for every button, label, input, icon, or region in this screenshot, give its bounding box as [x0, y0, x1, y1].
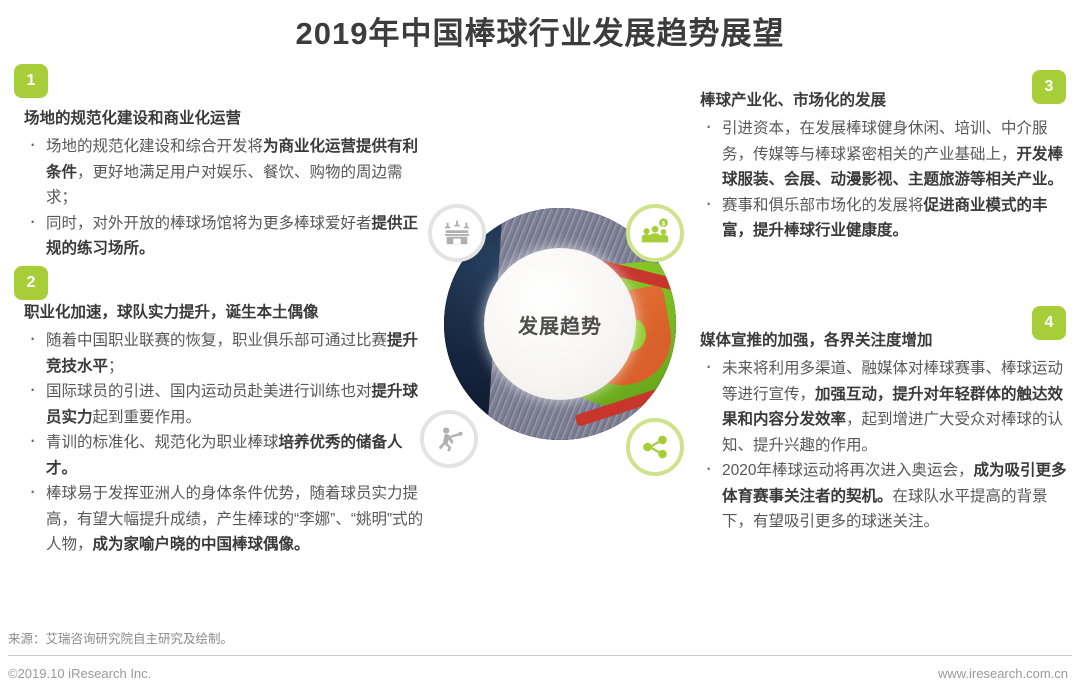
source-note: 来源：艾瑞咨询研究院自主研究及绘制。: [8, 628, 233, 647]
bullet-item: 随着中国职业联赛的恢复，职业俱乐部可通过比赛提升竞技水平；: [24, 328, 424, 379]
bullet-text: 随着中国职业联赛的恢复，职业俱乐部可通过比赛: [46, 332, 387, 349]
bullet-item: 引进资本，在发展棒球健身休闲、培训、中介服务，传媒等与棒球紧密相关的产业基础上，…: [700, 116, 1068, 193]
section-badge-2: 2: [14, 266, 48, 300]
bullet-item: 青训的标准化、规范化为职业棒球培养优秀的储备人才。: [24, 430, 424, 481]
bullet-item: 未来将利用多渠道、融媒体对棒球赛事、棒球运动等进行宣传，加强互动，提升对年轻群体…: [700, 356, 1068, 458]
people-money-icon: $: [626, 204, 684, 262]
bullet-text: 场地的规范化建设和综合开发将: [46, 138, 263, 155]
section-1: 场地的规范化建设和商业化运营 场地的规范化建设和综合开发将为商业化运营提供有利条…: [24, 106, 424, 262]
bullet-text: 2020年棒球运动将再次进入奥运会，: [722, 462, 973, 479]
bullet-item: 场地的规范化建设和综合开发将为商业化运营提供有利条件，更好地满足用户对娱乐、餐饮…: [24, 134, 424, 211]
center-disc: 发展趋势: [484, 248, 636, 400]
bullet-text: 青训的标准化、规范化为职业棒球: [46, 434, 279, 451]
section-badge-1: 1: [14, 64, 48, 98]
copyright-text: ©2019.10 iResearch Inc.: [8, 666, 151, 681]
stadium-icon: [428, 204, 486, 262]
baseball-batter-icon: [420, 410, 478, 468]
section-1-heading: 场地的规范化建设和商业化运营: [24, 106, 424, 132]
website-url[interactable]: www.iresearch.com.cn: [938, 666, 1068, 681]
section-4: 媒体宣推的加强，各界关注度增加 未来将利用多渠道、融媒体对棒球赛事、棒球运动等进…: [700, 328, 1068, 535]
section-3-heading: 棒球产业化、市场化的发展: [700, 88, 1068, 114]
bullet-text: 国际球员的引进、国内运动员赴美进行训练也对: [46, 383, 372, 400]
bullet-item: 同时，对外开放的棒球场馆将为更多棒球爱好者提供正规的练习场所。: [24, 211, 424, 262]
center-graphic: 发展趋势 $: [432, 196, 688, 452]
section-2: 职业化加速，球队实力提升，诞生本土偶像 随着中国职业联赛的恢复，职业俱乐部可通过…: [24, 300, 424, 558]
bullet-item: 棒球易于发挥亚洲人的身体条件优势，随着球员实力提高，有望大幅提升成绩，产生棒球的…: [24, 481, 424, 558]
section-3: 棒球产业化、市场化的发展 引进资本，在发展棒球健身休闲、培训、中介服务，传媒等与…: [700, 88, 1068, 244]
section-4-bullets: 未来将利用多渠道、融媒体对棒球赛事、棒球运动等进行宣传，加强互动，提升对年轻群体…: [700, 356, 1068, 535]
footer-divider: [8, 655, 1072, 656]
bullet-text: 赛事和俱乐部市场化的发展将: [722, 197, 924, 214]
bullet-item: 国际球员的引进、国内运动员赴美进行训练也对提升球员实力起到重要作用。: [24, 379, 424, 430]
center-label: 发展趋势: [518, 310, 602, 339]
bullet-text: 起到重要作用。: [93, 409, 202, 426]
bullet-item: 赛事和俱乐部市场化的发展将促进商业模式的丰富，提升棒球行业健康度。: [700, 193, 1068, 244]
section-2-heading: 职业化加速，球队实力提升，诞生本土偶像: [24, 300, 424, 326]
section-3-bullets: 引进资本，在发展棒球健身休闲、培训、中介服务，传媒等与棒球紧密相关的产业基础上，…: [700, 116, 1068, 244]
share-network-icon: [626, 418, 684, 476]
section-4-heading: 媒体宣推的加强，各界关注度增加: [700, 328, 1068, 354]
bullet-text: 同时，对外开放的棒球场馆将为更多棒球爱好者: [46, 215, 372, 232]
bullet-text: 引进资本，在发展棒球健身休闲、培训、中介服务，传媒等与棒球紧密相关的产业基础上，: [722, 120, 1048, 163]
bullet-text: ；: [108, 358, 124, 375]
section-1-bullets: 场地的规范化建设和综合开发将为商业化运营提供有利条件，更好地满足用户对娱乐、餐饮…: [24, 134, 424, 262]
bullet-item: 2020年棒球运动将再次进入奥运会，成为吸引更多体育赛事关注者的契机。在球队水平…: [700, 458, 1068, 535]
bullet-text: ，更好地满足用户对娱乐、餐饮、购物的周边需求；: [46, 164, 403, 207]
bullet-text-emphasis: 成为家喻户晓的中国棒球偶像。: [93, 536, 310, 553]
svg-text:$: $: [662, 220, 666, 227]
page-title: 2019年中国棒球行业发展趋势展望: [0, 12, 1080, 56]
section-2-bullets: 随着中国职业联赛的恢复，职业俱乐部可通过比赛提升竞技水平；国际球员的引进、国内运…: [24, 328, 424, 558]
